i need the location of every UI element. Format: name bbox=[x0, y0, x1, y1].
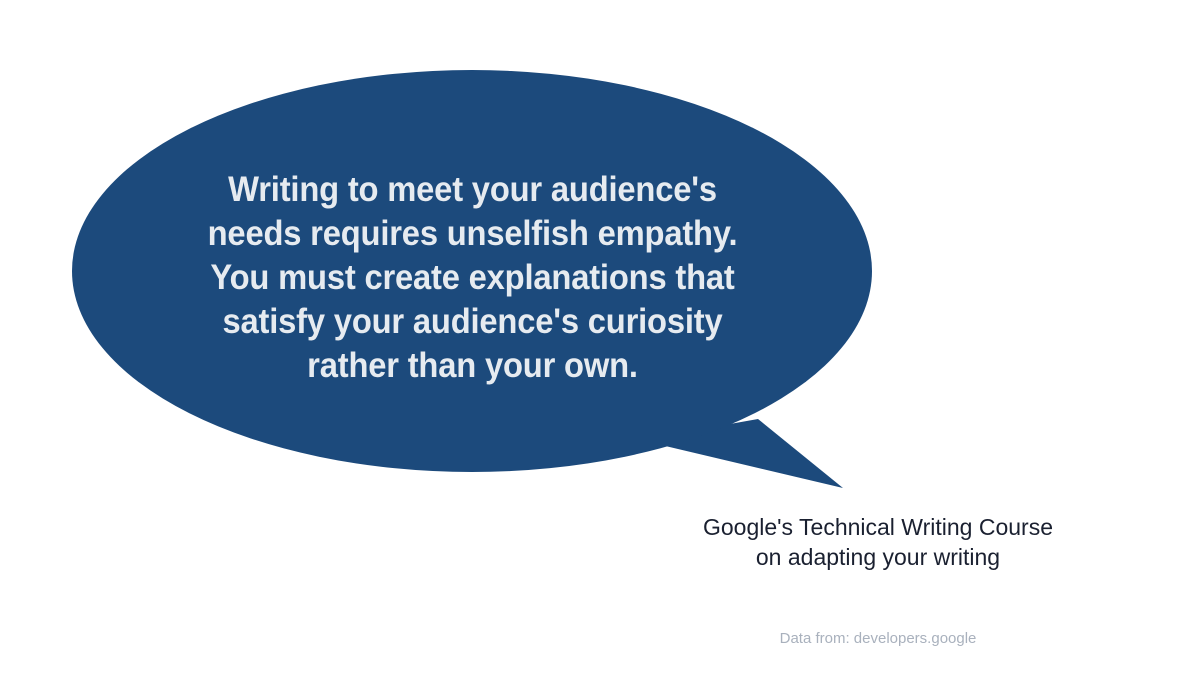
quote-text: Writing to meet your audience's needs re… bbox=[134, 168, 812, 388]
quote-line-2: needs requires unselfish empathy. bbox=[134, 212, 812, 256]
attribution-line-1: Google's Technical Writing Course bbox=[628, 512, 1128, 542]
attribution: Google's Technical Writing Course on ada… bbox=[628, 512, 1128, 572]
quote-line-1: Writing to meet your audience's bbox=[134, 168, 812, 212]
quote-card: Writing to meet your audience's needs re… bbox=[0, 0, 1200, 700]
attribution-line-2: on adapting your writing bbox=[628, 542, 1128, 572]
source-note: Data from: developers.google bbox=[628, 629, 1128, 649]
quote-line-3: You must create explanations that bbox=[134, 256, 812, 300]
quote-line-4: satisfy your audience's curiosity bbox=[134, 300, 812, 344]
quote-line-5: rather than your own. bbox=[134, 344, 812, 388]
